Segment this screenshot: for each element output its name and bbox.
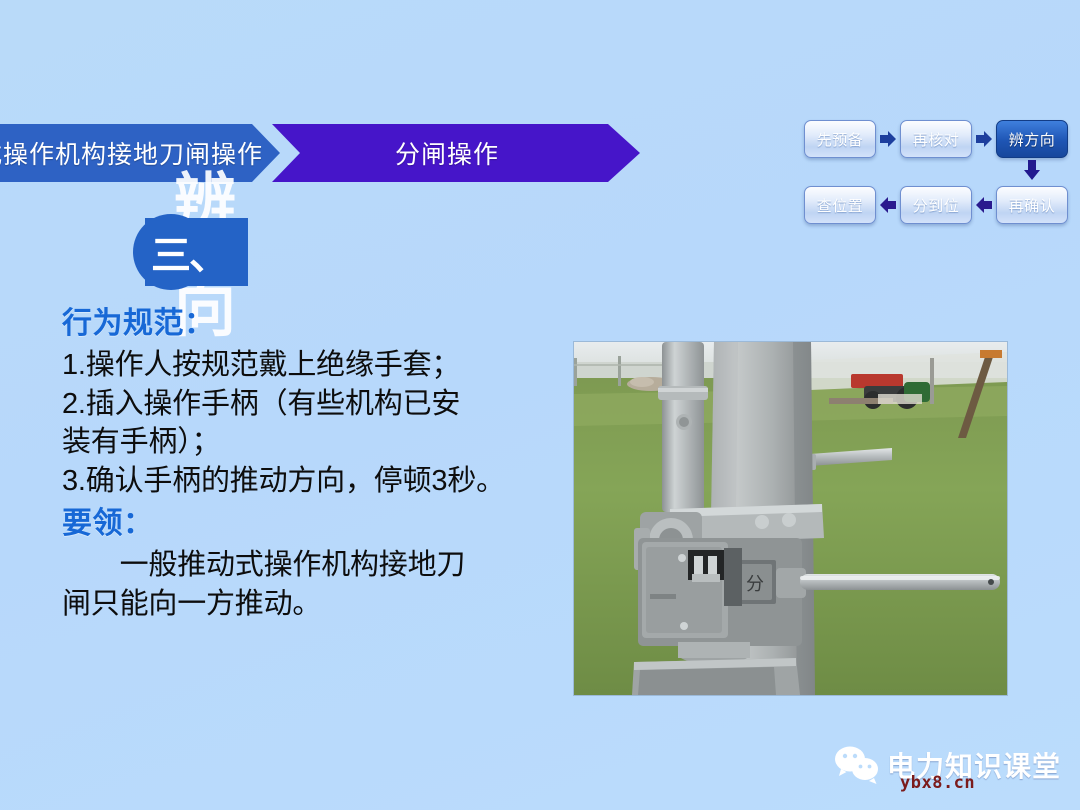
banner-right-chevron: 分闸操作: [272, 124, 640, 182]
key-point-heading: 要领：: [62, 506, 567, 542]
flow-step-1-label: 先预备: [817, 129, 864, 150]
section-number-badge: 三、: [133, 218, 248, 288]
badge-label: 三、: [145, 218, 248, 286]
banner-right-label: 分闸操作: [395, 135, 499, 171]
flow-step-6-label: 查位置: [817, 195, 864, 216]
flow-step-4-label: 再确认: [1009, 195, 1056, 216]
site-url-watermark: ybx8.cn: [900, 773, 975, 793]
svg-text:分: 分: [746, 574, 764, 595]
slide-canvas: 式操作机构接地刀闸操作 分闸操作 辨 方 向 三、 行为规范： 1.操作人按规范…: [0, 0, 1080, 810]
banner-left-label: 式操作机构接地刀闸操作: [0, 135, 263, 171]
behavior-norm-body: 1.操作人按规范戴上绝缘手套； 2.插入操作手柄（有些机构已安 装有手柄）； 3…: [62, 346, 567, 500]
flow-step-3-label: 辨方向: [1009, 129, 1056, 150]
behavior-norm-heading: 行为规范：: [62, 306, 567, 342]
title-banner: 式操作机构接地刀闸操作 分闸操作: [0, 124, 640, 182]
wechat-icon: [833, 745, 881, 785]
key-point-body: 一般推动式操作机构接地刀 闸只能向一方推动。: [62, 546, 567, 623]
photo-illustration: 分: [574, 342, 1007, 695]
content-text-block: 行为规范： 1.操作人按规范戴上绝缘手套； 2.插入操作手柄（有些机构已安 装有…: [62, 306, 567, 623]
flow-step-5-label: 分到位: [913, 195, 960, 216]
process-flow-chart: 先预备 再核对 辨方向 再确认 分到位 查位置: [800, 114, 1072, 232]
flow-step-2-label: 再核对: [913, 129, 960, 150]
flow-step-1[interactable]: 先预备: [804, 120, 876, 158]
banner-left-chevron: 式操作机构接地刀闸操作: [0, 124, 280, 182]
flow-step-5[interactable]: 分到位: [900, 186, 972, 224]
equipment-photo: 分: [573, 341, 1008, 696]
flow-step-6[interactable]: 查位置: [804, 186, 876, 224]
flow-step-4[interactable]: 再确认: [996, 186, 1068, 224]
flow-step-2[interactable]: 再核对: [900, 120, 972, 158]
flow-step-3[interactable]: 辨方向: [996, 120, 1068, 158]
